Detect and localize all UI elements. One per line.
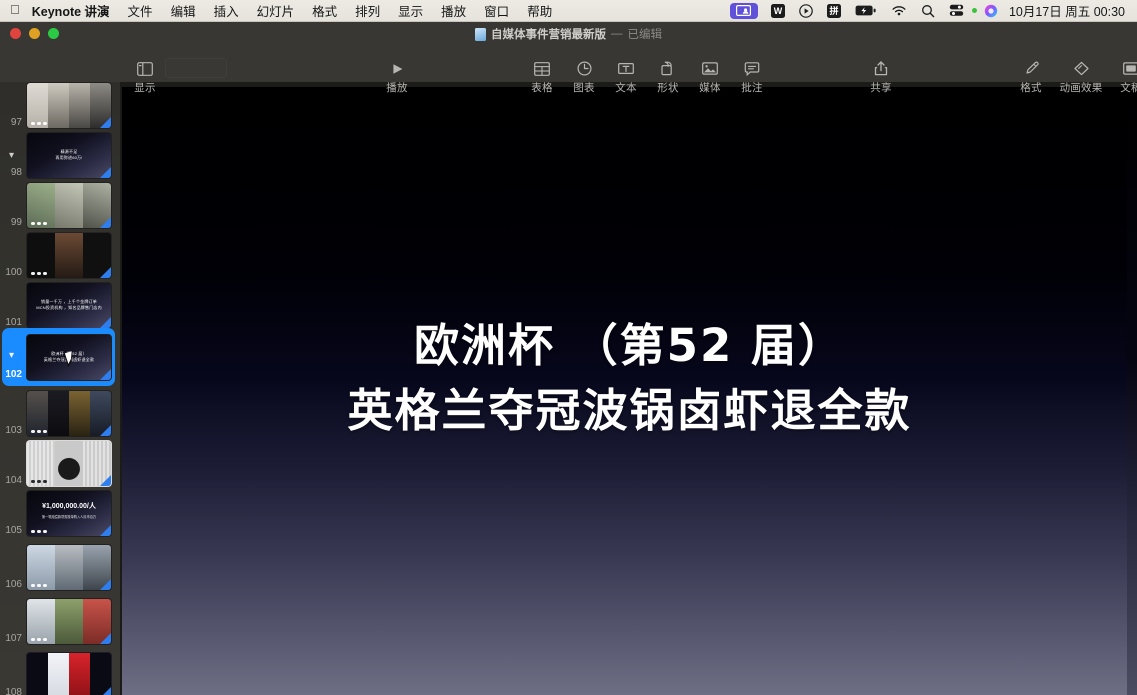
- play-circle-icon[interactable]: [792, 0, 820, 22]
- format-button[interactable]: 格式: [1010, 60, 1052, 95]
- slide-thumbnail[interactable]: [26, 390, 112, 437]
- menu-label: 插入: [214, 1, 239, 20]
- build-dots: [31, 530, 47, 534]
- corner-marker: [100, 267, 111, 278]
- play-button[interactable]: 播放: [376, 60, 418, 95]
- slide-navigator-item[interactable]: 108: [0, 652, 120, 695]
- corner-marker: [100, 425, 111, 436]
- share-button-label: 共享: [870, 80, 891, 95]
- slide-navigator-item[interactable]: 107: [0, 598, 120, 645]
- thumbnail-photo: [27, 653, 111, 695]
- slide-number: 98: [0, 167, 26, 179]
- slide-thumbnail[interactable]: [26, 544, 112, 591]
- slide-navigator-item[interactable]: 100: [0, 232, 120, 279]
- slide-thumbnail[interactable]: 销量一千万 ，上千个金牌订单 MCN投资机构 ，知名品牌售门店内: [26, 282, 112, 329]
- document-button-label: 文稿: [1120, 80, 1137, 95]
- menu-label: Keynote 讲演: [32, 1, 110, 20]
- zoom-control[interactable]: [165, 58, 227, 78]
- format-brush-icon: [1024, 60, 1039, 77]
- slide-number: 107: [0, 633, 26, 645]
- thumbnail-title: 精源不足 再用弥进60万!: [27, 149, 111, 163]
- chart-icon: [577, 60, 592, 77]
- play-button-label: 播放: [386, 80, 407, 95]
- view-button-label: 显示: [134, 80, 155, 95]
- build-dots: [31, 584, 47, 588]
- slide-title-line-2: 英格兰夺冠波锅卤虾退全款: [122, 384, 1137, 439]
- menu-item-slide[interactable]: 幻灯片: [248, 2, 304, 20]
- battery-charging-icon[interactable]: [848, 0, 884, 22]
- share-icon: [874, 60, 888, 77]
- chevron-down-icon[interactable]: ▾: [9, 350, 14, 361]
- slide-number: 106: [0, 579, 26, 591]
- menu-item-file[interactable]: 文件: [119, 2, 162, 20]
- build-dots: [31, 122, 47, 126]
- slide-navigator-item[interactable]: 105 ¥1,000,000.00/人 第一笔赔偿款项需按单购入人民币百万: [0, 490, 120, 537]
- menu-item-edit[interactable]: 编辑: [162, 2, 205, 20]
- insert-table-label: 表格: [531, 80, 552, 95]
- screen-share-icon[interactable]: [730, 3, 758, 19]
- menu-item-window[interactable]: 窗口: [475, 2, 518, 20]
- slide-thumbnail[interactable]: [26, 182, 112, 229]
- corner-marker: [100, 525, 111, 536]
- toolbar-insert-group: 表格 图表 文本 形状 媒体: [521, 60, 773, 95]
- slide-title-block[interactable]: 欧洲杯 （第52 届） 英格兰夺冠波锅卤虾退全款: [122, 319, 1137, 439]
- build-dots: [31, 222, 47, 226]
- insert-comment-label: 批注: [741, 80, 762, 95]
- insert-text-button[interactable]: 文本: [605, 60, 647, 95]
- slide-navigator-item[interactable]: 106: [0, 544, 120, 591]
- menu-label: 编辑: [171, 1, 196, 20]
- toolbar-left-group: 显示: [124, 60, 166, 95]
- menu-item-insert[interactable]: 插入: [205, 2, 248, 20]
- slide-navigator-item[interactable]: 97: [0, 82, 120, 129]
- animate-icon: [1073, 60, 1090, 77]
- apple-menu-icon[interactable]: : [10, 3, 20, 16]
- share-button[interactable]: 共享: [860, 60, 902, 95]
- slide-canvas[interactable]: 欧洲杯 （第52 届） 英格兰夺冠波锅卤虾退全款: [120, 82, 1137, 695]
- insert-text-label: 文本: [615, 80, 636, 95]
- insert-comment-button[interactable]: 批注: [731, 60, 773, 95]
- title-separator: —: [611, 28, 623, 40]
- slide-navigator-item[interactable]: 104: [0, 440, 120, 487]
- format-button-label: 格式: [1020, 80, 1041, 95]
- slide-thumbnail[interactable]: 精源不足 再用弥进60万!: [26, 132, 112, 179]
- thumbnail-amount: ¥1,000,000.00/人 第一笔赔偿款项需按单购入人民币百万: [27, 501, 111, 519]
- media-image-icon: [702, 60, 718, 77]
- build-dots: [31, 430, 47, 434]
- corner-marker: [100, 217, 111, 228]
- menu-bar-status-area: W 拼 10月17日 周五 00:30: [724, 0, 1137, 22]
- menu-item-keynote[interactable]: Keynote 讲演: [30, 2, 119, 20]
- corner-marker: [100, 167, 111, 178]
- menu-label: 格式: [312, 1, 337, 20]
- slide-number: 108: [0, 687, 26, 695]
- build-dots: [31, 480, 47, 484]
- insert-shape-button[interactable]: 形状: [647, 60, 689, 95]
- menu-label: 播放: [441, 1, 466, 20]
- slide-thumbnail[interactable]: ¥1,000,000.00/人 第一笔赔偿款项需按单购入人民币百万: [26, 490, 112, 537]
- document-title: 自媒体事件营销最新版: [491, 26, 606, 42]
- document-title-bar[interactable]: 自媒体事件营销最新版 — 已编辑: [0, 26, 1137, 42]
- corner-marker: [100, 369, 111, 380]
- menu-item-arrange[interactable]: 排列: [346, 2, 389, 20]
- slide-thumbnail[interactable]: [26, 598, 112, 645]
- slide-number: 97: [0, 117, 26, 129]
- corner-marker: [100, 633, 111, 644]
- insert-media-button[interactable]: 媒体: [689, 60, 731, 95]
- slide-navigator[interactable]: 97 ▾ 98 精源不足 再用弥进60万! 99: [0, 82, 120, 695]
- comment-icon: [744, 60, 760, 77]
- menu-bar:  Keynote 讲演 文件 编辑 插入 幻灯片 格式 排列 显示 播放 窗口…: [0, 0, 1137, 22]
- build-dots: [31, 272, 47, 276]
- document-icon: [1123, 60, 1137, 77]
- corner-marker: [100, 687, 111, 695]
- insert-media-label: 媒体: [699, 80, 720, 95]
- control-center-icon[interactable]: [942, 0, 971, 22]
- corner-marker: [100, 475, 111, 486]
- view-sidebar-icon: [137, 60, 153, 77]
- search-icon[interactable]: [914, 0, 942, 22]
- menu-label: 帮助: [527, 1, 552, 20]
- toolbar-right-group: 格式 动画效果 文稿: [1010, 60, 1137, 95]
- menu-item-view[interactable]: 显示: [389, 2, 432, 20]
- menu-label: 窗口: [484, 1, 509, 20]
- table-icon: [534, 60, 550, 77]
- slide-number: 102: [0, 369, 26, 386]
- slide-thumbnail[interactable]: [26, 82, 112, 129]
- document-icon: [475, 28, 486, 41]
- slide-thumbnail[interactable]: [26, 232, 112, 279]
- slide-number: 105: [0, 525, 26, 537]
- insert-chart-label: 图表: [573, 80, 594, 95]
- slide-right-edge: [1127, 87, 1137, 695]
- corner-marker: [100, 317, 111, 328]
- corner-marker: [100, 579, 111, 590]
- edit-state-label: 已编辑: [628, 26, 663, 42]
- menu-label: 排列: [355, 1, 380, 20]
- menu-item-help[interactable]: 帮助: [518, 2, 561, 20]
- menu-label: 文件: [128, 1, 153, 20]
- slide-number: 104: [0, 475, 26, 487]
- slide-title-line-1: 欧洲杯 （第52 届）: [122, 319, 1137, 374]
- wechat-work-icon[interactable]: W: [764, 0, 792, 22]
- input-method-icon[interactable]: 拼: [820, 0, 848, 22]
- corner-marker: [100, 117, 111, 128]
- app-toolbar: 自媒体事件营销最新版 — 已编辑 显示 播放 表格: [0, 22, 1137, 82]
- slide-thumbnail[interactable]: [26, 440, 112, 487]
- menu-item-play[interactable]: 播放: [432, 2, 475, 20]
- slide-number: 99: [0, 217, 26, 229]
- insert-shape-label: 形状: [657, 80, 678, 95]
- menu-item-format[interactable]: 格式: [303, 2, 346, 20]
- menu-label: 显示: [398, 1, 423, 20]
- animate-button[interactable]: 动画效果: [1052, 60, 1110, 95]
- shapes-icon: [660, 60, 676, 77]
- slide-navigator-item[interactable]: ▾ 98 精源不足 再用弥进60万!: [0, 132, 120, 179]
- menu-bar-clock[interactable]: 10月17日 周五 00:30: [1005, 1, 1129, 20]
- toolbar-play-group: 播放: [376, 60, 418, 95]
- slide-navigator-item-selected[interactable]: ▾ 102 欧洲杯（第52 届） 英格兰夺冠波锅卤虾退全款: [0, 328, 120, 386]
- slide-navigator-item[interactable]: 101 销量一千万 ，上千个金牌订单 MCN投资机构 ，知名品牌售门店内: [0, 282, 120, 329]
- current-slide[interactable]: 欧洲杯 （第52 届） 英格兰夺冠波锅卤虾退全款: [122, 87, 1137, 695]
- wifi-icon[interactable]: [884, 0, 914, 22]
- slide-navigator-item[interactable]: 103: [0, 390, 120, 437]
- insert-chart-button[interactable]: 图表: [563, 60, 605, 95]
- play-icon: [390, 60, 405, 77]
- thumbnail-amount-caption: 第一笔赔偿款项需按单购入人民币百万: [27, 514, 111, 519]
- animate-button-label: 动画效果: [1060, 80, 1103, 95]
- menu-label: 幻灯片: [257, 1, 295, 20]
- chevron-down-icon[interactable]: ▾: [9, 150, 14, 161]
- document-button[interactable]: 文稿: [1110, 60, 1137, 95]
- view-button[interactable]: 显示: [124, 60, 166, 95]
- slide-number: 100: [0, 267, 26, 279]
- build-dots: [31, 638, 47, 642]
- text-box-icon: [618, 60, 634, 77]
- thumbnail-title: 销量一千万 ，上千个金牌订单 MCN投资机构 ，知名品牌售门店内: [27, 299, 111, 313]
- thumbnail-amount-value: ¥1,000,000.00/人: [42, 503, 96, 510]
- slide-number: 103: [0, 425, 26, 437]
- slide-thumbnail[interactable]: [26, 652, 112, 695]
- insert-table-button[interactable]: 表格: [521, 60, 563, 95]
- slide-navigator-item[interactable]: 99: [0, 182, 120, 229]
- toolbar-share-group: 共享: [860, 60, 902, 95]
- siri-icon[interactable]: [977, 0, 1005, 22]
